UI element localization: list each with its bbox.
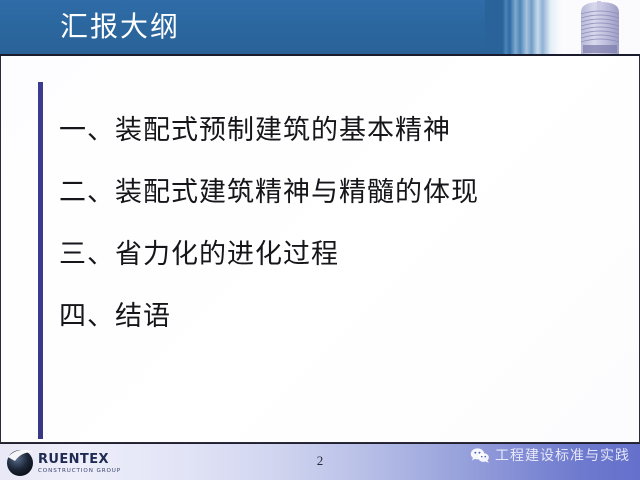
header-photo-panel — [565, 0, 640, 54]
building-image — [571, 0, 629, 54]
slide-title-bar: 汇报大纲 — [0, 0, 640, 54]
slide-content: 一、装配式预制建筑的基本精神 二、装配式建筑精神与精髓的体现 三、省力化的进化过… — [0, 56, 640, 443]
watermark-text: 工程建设标准与实践 — [495, 445, 630, 465]
decorative-stripes — [485, 0, 565, 54]
slide-footer: RUENTEX CONSTRUCTION GROUP 2 工程建设标准与实践 — [0, 443, 640, 480]
outline-list: 一、装配式预制建筑的基本精神 二、装配式建筑精神与精髓的体现 三、省力化的进化过… — [59, 114, 599, 362]
outline-item-2: 二、装配式建筑精神与精髓的体现 — [59, 176, 599, 209]
watermark: 工程建设标准与实践 — [470, 444, 630, 466]
outline-item-3: 三、省力化的进化过程 — [59, 238, 599, 271]
outline-item-1: 一、装配式预制建筑的基本精神 — [59, 114, 599, 147]
vertical-accent-bar — [38, 82, 43, 439]
wechat-icon — [470, 447, 490, 464]
outline-item-4: 四、结语 — [59, 300, 599, 333]
presentation-slide: 汇报大纲 — [0, 0, 640, 480]
page-title: 汇报大纲 — [60, 8, 180, 46]
